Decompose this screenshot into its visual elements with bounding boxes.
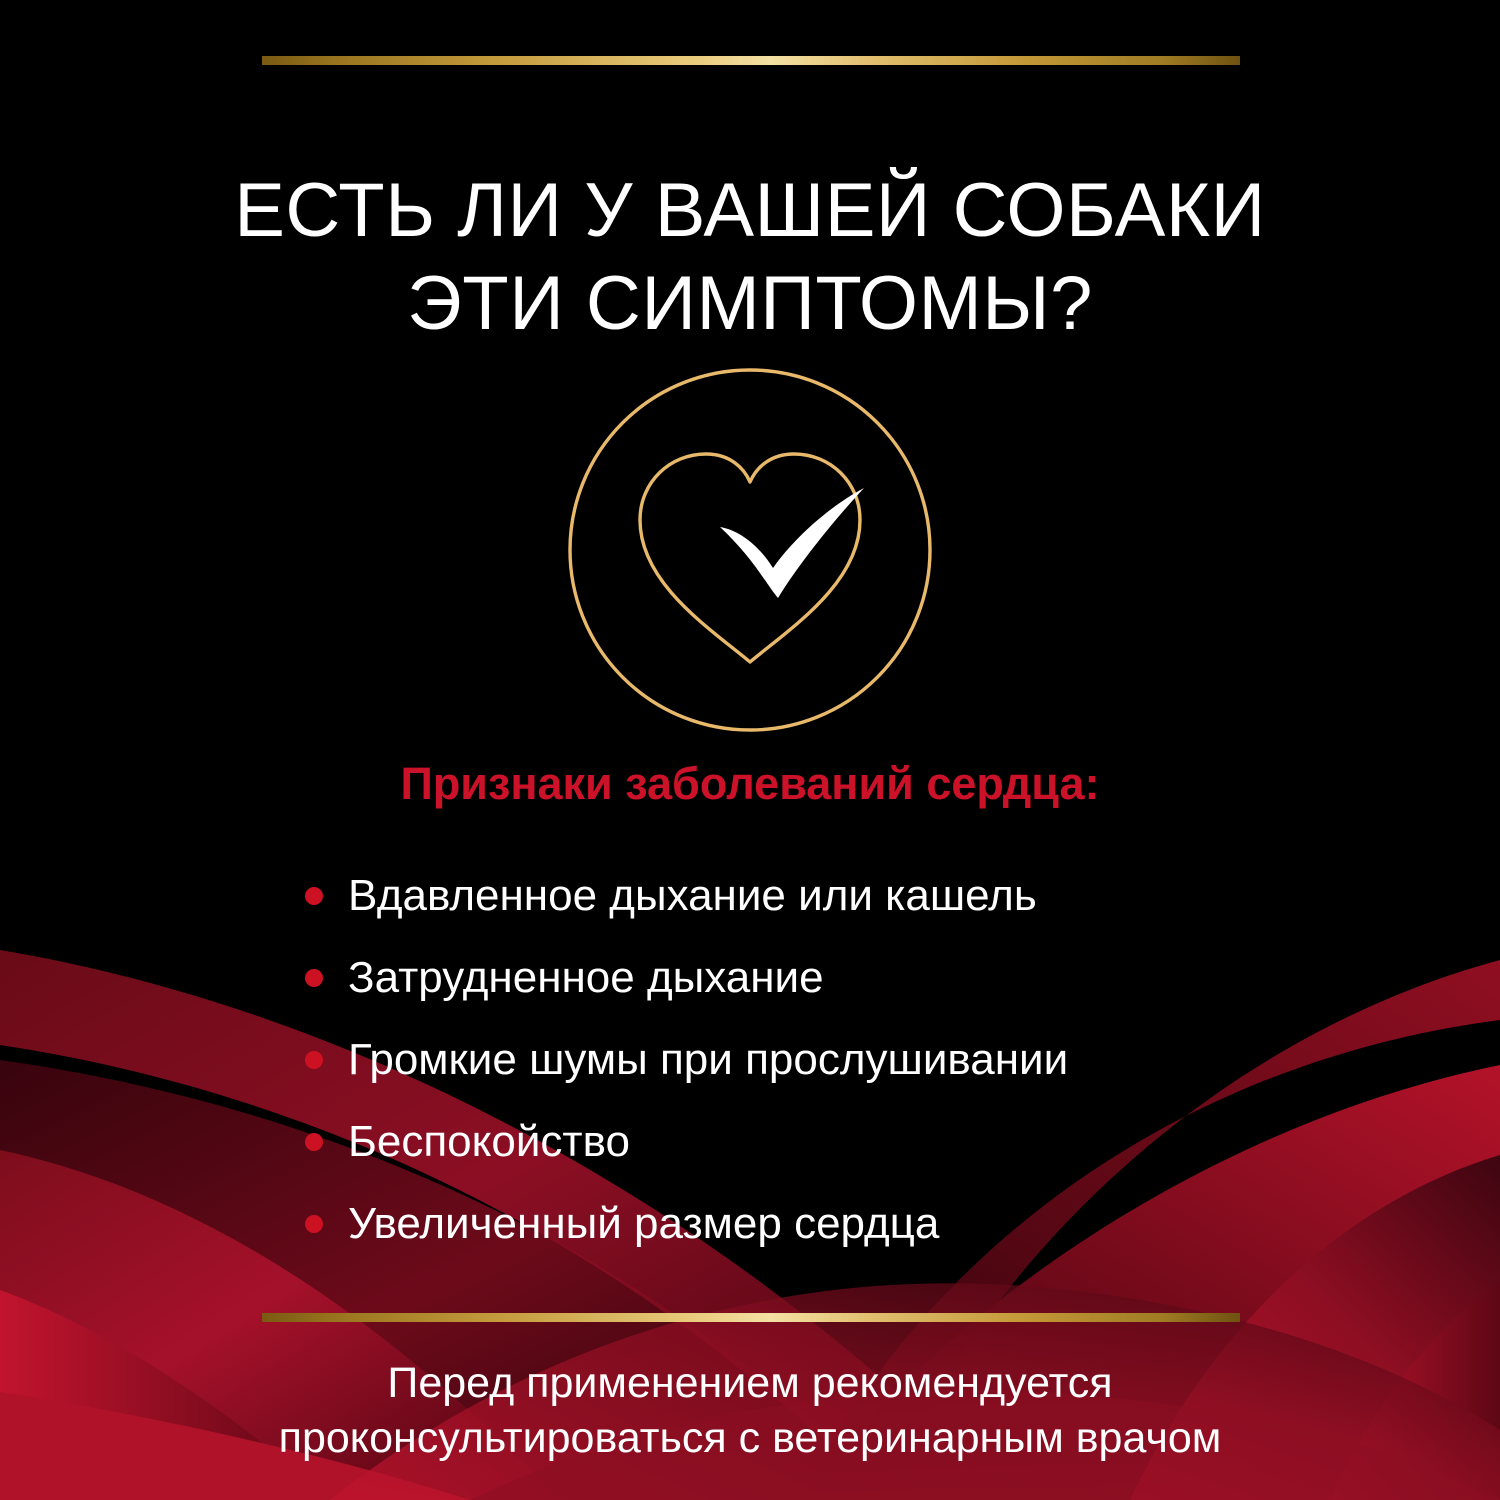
bullet-dot-icon	[305, 887, 323, 905]
footer-note: Перед применением рекомендуется проконсу…	[110, 1356, 1390, 1466]
list-item: Громкие шумы при прослушивании	[300, 1019, 1280, 1101]
page-title-line-2: ЭТИ СИМПТОМЫ?	[407, 261, 1093, 346]
bullet-dot-icon	[305, 1215, 323, 1233]
list-item: Затрудненное дыхание	[300, 937, 1280, 1019]
list-item-label: Громкие шумы при прослушивании	[348, 1035, 1068, 1084]
section-heading: Признаки заболеваний сердца:	[150, 758, 1350, 810]
symptom-list: Вдавленное дыхание или кашель Затрудненн…	[300, 855, 1280, 1265]
bullet-dot-icon	[305, 1133, 323, 1151]
list-item-label: Увеличенный размер сердца	[348, 1199, 939, 1248]
divider-bottom	[262, 1313, 1240, 1322]
list-item-label: Вдавленное дыхание или кашель	[348, 871, 1037, 920]
page-title: ЕСТЬ ЛИ У ВАШЕЙ СОБАКИ ЭТИ СИМПТОМЫ?	[150, 164, 1350, 351]
list-item-label: Затрудненное дыхание	[348, 953, 824, 1002]
bullet-dot-icon	[305, 1051, 323, 1069]
check-mark-icon	[720, 488, 864, 598]
page-title-line-1: ЕСТЬ ЛИ У ВАШЕЙ СОБАКИ	[234, 168, 1266, 253]
list-item-label: Беспокойство	[348, 1117, 630, 1166]
list-item: Беспокойство	[300, 1101, 1280, 1183]
list-item: Вдавленное дыхание или кашель	[300, 855, 1280, 937]
poster-canvas: ЕСТЬ ЛИ У ВАШЕЙ СОБАКИ ЭТИ СИМПТОМЫ? При…	[0, 0, 1500, 1500]
list-item: Увеличенный размер сердца	[300, 1183, 1280, 1265]
footer-note-line-1: Перед применением рекомендуется	[387, 1359, 1112, 1407]
heart-check-icon	[562, 362, 938, 738]
bullet-dot-icon	[305, 969, 323, 987]
footer-note-line-2: проконсультироваться с ветеринарным врач…	[279, 1414, 1222, 1462]
divider-top	[262, 56, 1240, 65]
